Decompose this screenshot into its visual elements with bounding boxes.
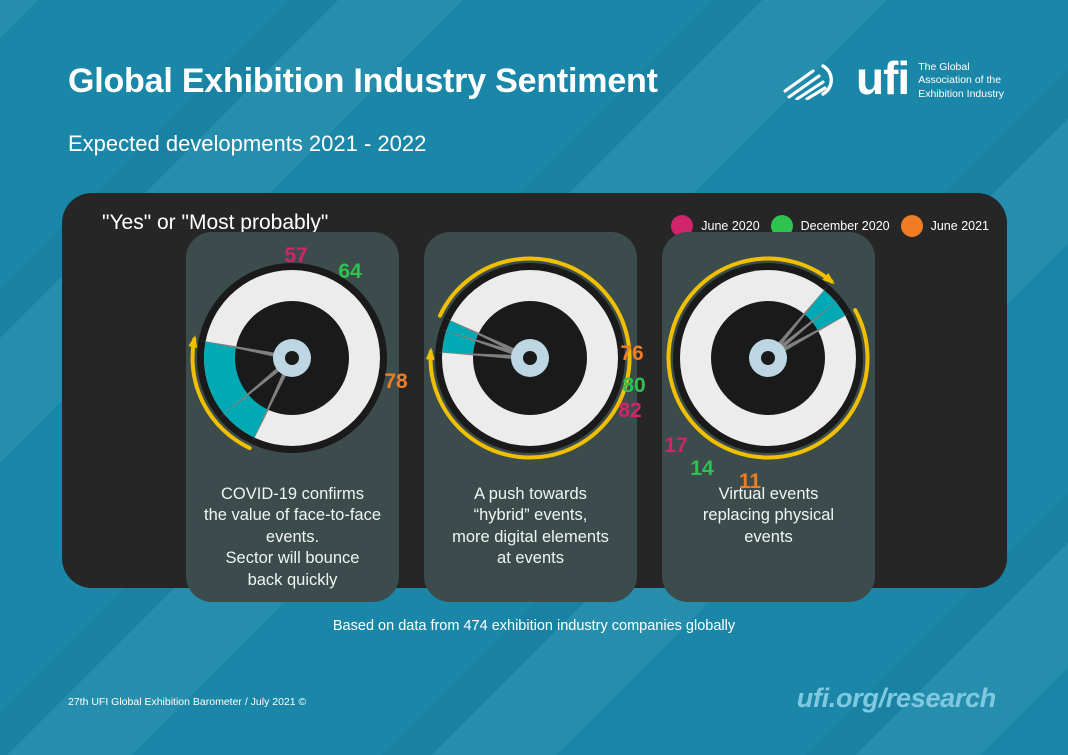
gauge-value-label: 14: [690, 457, 714, 480]
gauge-virtual-events: 171411: [654, 240, 914, 515]
gauge-value-label: 17: [664, 434, 687, 457]
page-title: Global Exhibition Industry Sentiment: [68, 62, 658, 101]
legend-label: December 2020: [801, 219, 890, 233]
page-subtitle: Expected developments 2021 - 2022: [68, 131, 426, 157]
footer-credit: 27th UFI Global Exhibition Barometer / J…: [68, 696, 306, 708]
gauge-covid-face-to-face: 576478: [178, 240, 438, 515]
legend-label: June 2020: [701, 219, 759, 233]
gauge-value-label: 11: [739, 470, 762, 493]
footer-url-link[interactable]: ufi.org/research: [797, 683, 996, 714]
gauge-covid-face-to-face-svg: 576478: [178, 240, 438, 510]
ufi-logo: ufi The Global Association of the Exhibi…: [783, 57, 1004, 101]
gauge-value-label: 80: [622, 374, 645, 397]
gauge-hybrid-events-svg: 768082: [416, 240, 676, 510]
ufi-tagline: The Global Association of the Exhibition…: [918, 57, 1004, 101]
gauge-hub-hole: [285, 351, 299, 365]
gauge-hub-hole: [761, 351, 775, 365]
legend-dot-icon: [901, 215, 923, 237]
gauge-hybrid-events: 768082: [416, 240, 676, 515]
legend-label: June 2021: [931, 219, 989, 233]
gauge-virtual-events-svg: 171411: [654, 240, 914, 510]
source-note: Based on data from 474 exhibition indust…: [0, 618, 1068, 634]
ufi-wordmark: ufi: [856, 55, 909, 101]
infographic-root: Global Exhibition Industry Sentiment Exp…: [0, 0, 1068, 755]
legend-item-june-2021: June 2021: [901, 215, 989, 237]
gauge-hub-hole: [523, 351, 537, 365]
gauge-value-label: 82: [618, 399, 641, 422]
gauge-value-label: 78: [384, 370, 408, 393]
gauge-value-label: 57: [284, 244, 307, 267]
gauge-value-label: 76: [620, 342, 643, 365]
ufi-swoosh-icon: [783, 58, 847, 100]
gauge-value-label: 64: [338, 260, 362, 283]
